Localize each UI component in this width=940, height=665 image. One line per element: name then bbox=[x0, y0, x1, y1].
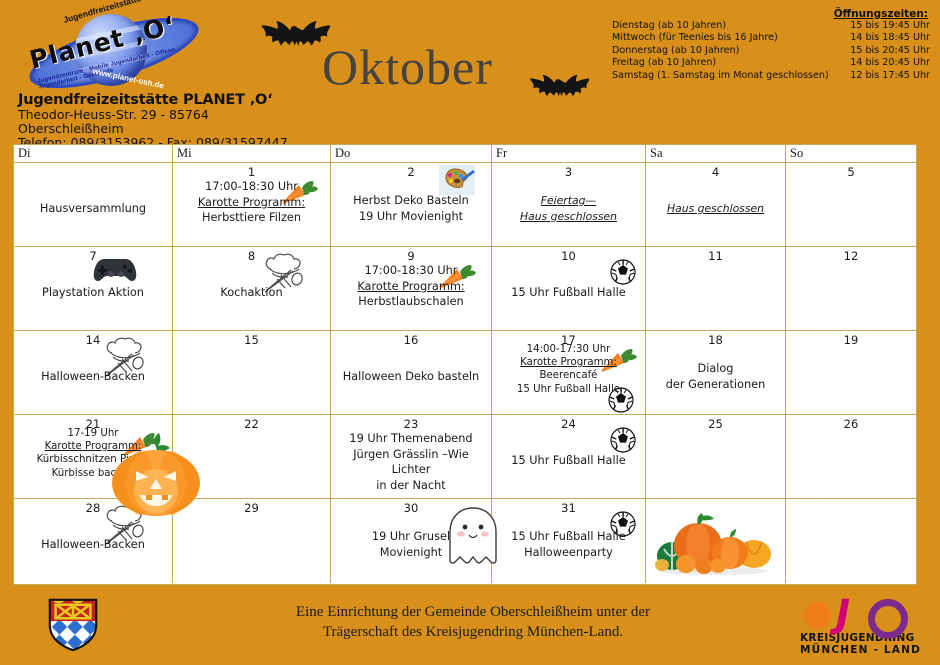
event-line: 15 Uhr Fußball Halle bbox=[495, 383, 642, 396]
page-footer: Eine Einrichtung der Gemeinde Oberschlei… bbox=[0, 588, 940, 665]
footer-line-2: Trägerschaft des Kreisjugendring München… bbox=[238, 622, 708, 642]
kjr-logo-mark: J bbox=[800, 598, 924, 632]
calendar-day-10[interactable]: 10 15 Uhr Fußball Halle bbox=[492, 247, 646, 330]
calendar-day-1[interactable]: 1 17:00-18:30 UhrKarotte Programm:Herbst… bbox=[173, 163, 331, 246]
opening-hours-time: 15 bis 19:45 Uhr bbox=[850, 20, 930, 32]
event-line: Feiertag— bbox=[495, 193, 642, 209]
weekday-header-do: Do bbox=[331, 145, 492, 162]
event-line: 19 Uhr Themenabend bbox=[334, 431, 488, 447]
day-events: 17:00-18:30 UhrKarotte Programm:Herbstti… bbox=[173, 179, 330, 226]
opening-hours-time: 15 bis 20:45 Uhr bbox=[850, 45, 930, 57]
day-events: 15 Uhr Fußball Halle bbox=[492, 453, 645, 469]
day-number: 18 bbox=[646, 333, 785, 347]
calendar-day-31[interactable]: 31 15 Uhr Fußball HalleHalloweenparty bbox=[492, 499, 646, 583]
opening-hours-day: Samstag (1. Samstag im Monat geschlossen… bbox=[612, 70, 829, 82]
event-line: Halloween-Backen bbox=[17, 369, 169, 385]
event-line: Halloweenparty bbox=[495, 545, 642, 561]
event-line: Haus geschlossen bbox=[495, 209, 642, 225]
day-number: 22 bbox=[173, 417, 330, 431]
event-line: Playstation Aktion bbox=[17, 285, 169, 301]
calendar-day-21[interactable]: 21 17-19 UhrKarotte Programm:Kürbisschni… bbox=[14, 415, 173, 498]
calendar-day-23[interactable]: 2319 Uhr ThemenabendJürgen Grässlin –Wie… bbox=[331, 415, 492, 498]
opening-hours-row: Donnerstag (ab 10 Jahren)15 bis 20:45 Uh… bbox=[612, 45, 930, 57]
event-line: 19 Uhr Grusel bbox=[334, 529, 488, 545]
page-header: Jugendfreizeitstätte Planet ‚O‘ Jugendze… bbox=[0, 0, 940, 140]
calendar-day-5[interactable]: 5 bbox=[786, 163, 916, 246]
day-events: 19 Uhr ThemenabendJürgen Grässlin –Wie L… bbox=[331, 431, 491, 493]
day-number: 26 bbox=[786, 417, 916, 431]
event-line: 15 Uhr Fußball Halle bbox=[495, 285, 642, 301]
page-title: Oktober bbox=[322, 38, 493, 96]
day-events: Haus geschlossen bbox=[646, 201, 785, 217]
calendar-day-3[interactable]: 3Feiertag—Haus geschlossen bbox=[492, 163, 646, 246]
calendar-week-row: 14 Halloween-Backen1516Halloween Deko ba… bbox=[14, 331, 916, 415]
jack-o-lantern-icon bbox=[110, 431, 202, 522]
day-events: Feiertag—Haus geschlossen bbox=[492, 193, 645, 224]
opening-hours-title: Öffnungszeiten: bbox=[612, 8, 930, 20]
calendar-day-empty[interactable] bbox=[786, 499, 916, 583]
weekday-label: Di bbox=[14, 145, 172, 161]
calendar-day-2[interactable]: 2 Herbst Deko Basteln19 Uhr Movienight bbox=[331, 163, 492, 246]
event-line: Beerencafé bbox=[495, 369, 642, 382]
day-number: 25 bbox=[646, 417, 785, 431]
weekday-header-mi: Mi bbox=[173, 145, 331, 162]
opening-hours-day: Donnerstag (ab 10 Jahren) bbox=[612, 45, 739, 57]
day-number: 15 bbox=[173, 333, 330, 347]
calendar-day-30[interactable]: 30 19 Uhr GruselMovienight bbox=[331, 499, 492, 583]
kjr-line-2: MÜNCHEN - LAND bbox=[800, 644, 924, 656]
day-events: 15 Uhr Fußball Halle bbox=[492, 285, 645, 301]
opening-hours-day: Dienstag (ab 10 Jahren) bbox=[612, 20, 726, 32]
opening-hours-block: Öffnungszeiten: Dienstag (ab 10 Jahren)1… bbox=[612, 8, 930, 82]
calendar-day-17[interactable]: 17 14:00-17:30 UhrKarotte Programm:Beere… bbox=[492, 331, 646, 414]
day-number: 5 bbox=[786, 165, 916, 179]
day-number: 11 bbox=[646, 249, 785, 263]
calendar-day-empty[interactable] bbox=[646, 499, 786, 583]
calendar-week-row: Hausversammlung1 17:00-18:30 UhrKarotte … bbox=[14, 163, 916, 247]
opening-hours-day: Mittwoch (für Teenies bis 16 Jahre) bbox=[612, 32, 778, 44]
calendar-page: Jugendfreizeitstätte Planet ‚O‘ Jugendze… bbox=[0, 0, 940, 665]
event-line: Movienight bbox=[334, 545, 488, 561]
event-line: der Generationen bbox=[649, 377, 782, 393]
weekday-label: So bbox=[786, 145, 916, 161]
weekday-header-fr: Fr bbox=[492, 145, 646, 162]
event-line: in der Nacht bbox=[334, 478, 488, 494]
calendar-week-row: 7 Playstation Aktion8 Kochaktion9 bbox=[14, 247, 916, 331]
day-events: Dialogder Generationen bbox=[646, 361, 785, 392]
address-line-1: Theodor-Heuss-Str. 29 - 85764 bbox=[18, 108, 318, 122]
day-events: Halloween Deko basteln bbox=[331, 369, 491, 385]
month-calendar: DiMiDoFrSaSo Hausversammlung1 17:00-18:3… bbox=[13, 144, 917, 585]
event-line: Herbst Deko Basteln bbox=[334, 193, 488, 209]
kjr-dot-icon bbox=[804, 602, 831, 629]
calendar-day-25[interactable]: 25 bbox=[646, 415, 786, 498]
day-events: Halloween-Backen bbox=[14, 537, 172, 553]
address-line-2: Oberschleißheim bbox=[18, 122, 318, 136]
day-number: 3 bbox=[492, 165, 645, 179]
calendar-day-11[interactable]: 11 bbox=[646, 247, 786, 330]
day-events: 15 Uhr Fußball HalleHalloweenparty bbox=[492, 529, 645, 560]
event-line: 19 Uhr Movienight bbox=[334, 209, 488, 225]
kjr-line-1: KREISJUGENDRING bbox=[800, 632, 924, 644]
weekday-label: Do bbox=[331, 145, 491, 161]
day-events: Playstation Aktion bbox=[14, 285, 172, 301]
day-events: 19 Uhr GruselMovienight bbox=[331, 529, 491, 560]
event-line: Dialog bbox=[649, 361, 782, 377]
day-events: Hausversammlung bbox=[14, 201, 172, 217]
opening-hours-row: Mittwoch (für Teenies bis 16 Jahre)14 bi… bbox=[612, 32, 930, 44]
calendar-day-9[interactable]: 9 17:00-18:30 UhrKarotte Programm:Herbst… bbox=[331, 247, 492, 330]
event-line: 17:00-18:30 Uhr bbox=[176, 179, 327, 195]
event-line: Karotte Programm: bbox=[176, 195, 327, 211]
event-line: 17:00-18:30 Uhr bbox=[334, 263, 488, 279]
calendar-day-4[interactable]: 4Haus geschlossen bbox=[646, 163, 786, 246]
calendar-day-18[interactable]: 18Dialogder Generationen bbox=[646, 331, 786, 414]
calendar-day-26[interactable]: 26 bbox=[786, 415, 916, 498]
event-line: Jürgen Grässlin –Wie Lichter bbox=[334, 447, 488, 478]
kreisjugendring-logo: J KREISJUGENDRING MÜNCHEN - LAND bbox=[800, 598, 924, 656]
weekday-header-di: Di bbox=[14, 145, 173, 162]
event-line: Herbstlaubschalen bbox=[334, 294, 488, 310]
day-events: Kochaktion bbox=[173, 285, 330, 301]
calendar-day-14[interactable]: 14 Halloween-Backen bbox=[14, 331, 173, 414]
footer-line-1: Eine Einrichtung der Gemeinde Oberschlei… bbox=[238, 602, 708, 622]
opening-hours-time: 12 bis 17:45 Uhr bbox=[850, 70, 930, 82]
calendar-day-12[interactable]: 12 bbox=[786, 247, 916, 330]
weekday-header-so: So bbox=[786, 145, 916, 162]
event-line: Kochaktion bbox=[176, 285, 327, 301]
planet-o-logo: Jugendfreizeitstätte Planet ‚O‘ Jugendze… bbox=[18, 2, 203, 90]
kjr-o-icon bbox=[868, 599, 908, 639]
weekday-header-sa: Sa bbox=[646, 145, 786, 162]
calendar-day-24[interactable]: 24 15 Uhr Fußball Halle bbox=[492, 415, 646, 498]
event-line: Hausversammlung bbox=[17, 201, 169, 217]
day-number: 16 bbox=[331, 333, 491, 347]
pumpkins-icon bbox=[654, 509, 774, 580]
bat-icon bbox=[258, 18, 330, 58]
event-line: Haus geschlossen bbox=[649, 201, 782, 217]
day-number: 19 bbox=[786, 333, 916, 347]
weekday-label: Fr bbox=[492, 145, 645, 161]
opening-hours-row: Samstag (1. Samstag im Monat geschlossen… bbox=[612, 70, 930, 82]
opening-hours-row: Dienstag (ab 10 Jahren)15 bis 19:45 Uhr bbox=[612, 20, 930, 32]
calendar-day-8[interactable]: 8 Kochaktion bbox=[173, 247, 331, 330]
day-events: 14:00-17:30 UhrKarotte Programm:Beerenca… bbox=[492, 343, 645, 396]
event-line: Halloween-Backen bbox=[17, 537, 169, 553]
calendar-day-16[interactable]: 16Halloween Deko basteln bbox=[331, 331, 492, 414]
bat-icon bbox=[527, 72, 589, 107]
organization-name: Jugendfreizeitstätte PLANET ‚O‘ bbox=[18, 92, 318, 108]
day-events: Herbst Deko Basteln19 Uhr Movienight bbox=[331, 193, 491, 224]
footer-sponsor-text: Eine Einrichtung der Gemeinde Oberschlei… bbox=[238, 602, 708, 642]
calendar-day-15[interactable]: 15 bbox=[173, 331, 331, 414]
oberschleissheim-coat-of-arms-icon bbox=[44, 596, 102, 654]
weekday-label: Sa bbox=[646, 145, 785, 161]
day-number: 4 bbox=[646, 165, 785, 179]
opening-hours-time: 14 bis 18:45 Uhr bbox=[850, 32, 930, 44]
opening-hours-day: Freitag (ab 10 Jahren) bbox=[612, 57, 716, 69]
event-line: Karotte Programm: bbox=[334, 279, 488, 295]
event-line: Halloween Deko basteln bbox=[334, 369, 488, 385]
day-number: 23 bbox=[331, 417, 491, 431]
event-line: Karotte Programm: bbox=[495, 356, 642, 369]
weekday-label: Mi bbox=[173, 145, 330, 161]
calendar-day-19[interactable]: 19 bbox=[786, 331, 916, 414]
day-number: 12 bbox=[786, 249, 916, 263]
event-line: 14:00-17:30 Uhr bbox=[495, 343, 642, 356]
event-line: Herbsttiere Filzen bbox=[176, 210, 327, 226]
calendar-week-row: 21 17-19 UhrKarotte Programm:Kürbisschni… bbox=[14, 415, 916, 499]
calendar-day-7[interactable]: 7 Playstation Aktion bbox=[14, 247, 173, 330]
day-events: Halloween-Backen bbox=[14, 369, 172, 385]
calendar-header-row: DiMiDoFrSaSo bbox=[14, 145, 916, 163]
event-line: 15 Uhr Fußball Halle bbox=[495, 453, 642, 469]
event-line: 15 Uhr Fußball Halle bbox=[495, 529, 642, 545]
opening-hours-time: 14 bis 20:45 Uhr bbox=[850, 57, 930, 69]
day-events: 17:00-18:30 UhrKarotte Programm:Herbstla… bbox=[331, 263, 491, 310]
opening-hours-row: Freitag (ab 10 Jahren)14 bis 20:45 Uhr bbox=[612, 57, 930, 69]
kjr-j-icon: J bbox=[836, 596, 850, 632]
calendar-day-empty[interactable]: Hausversammlung bbox=[14, 163, 173, 246]
